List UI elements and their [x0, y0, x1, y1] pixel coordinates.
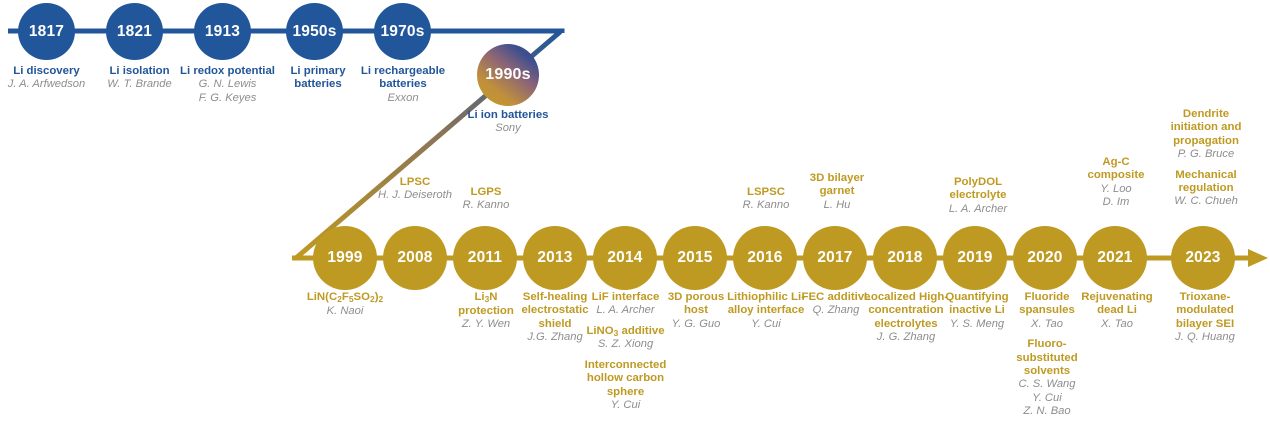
caption-author: W. T. Brande	[92, 78, 187, 91]
timeline-node-2011[interactable]: 2011	[453, 226, 517, 290]
timeline-node-2017[interactable]: 2017	[803, 226, 867, 290]
caption-title: LGPS	[446, 186, 526, 199]
caption-1990s: Li ion batteries Sony	[463, 109, 553, 136]
timeline-node-2023[interactable]: 2023	[1171, 226, 1235, 290]
timeline-figure: 1817 Li discovery J. A. Arfwedson 1821 L…	[0, 0, 1270, 430]
caption-1817: Li discovery J. A. Arfwedson	[0, 65, 99, 92]
caption-title: Dendrite initiation and propagation	[1163, 108, 1249, 148]
timeline-node-2018[interactable]: 2018	[873, 226, 937, 290]
caption-entry: Li rechargeable batteries Exxon	[356, 65, 450, 105]
caption-author: W. C. Chueh	[1163, 195, 1249, 208]
caption-title: Fluoro-substituted solvents	[1010, 338, 1084, 378]
caption-author: Y. Loo	[1080, 183, 1152, 196]
caption-author: F. G. Keyes	[180, 92, 275, 105]
caption-entry: Dendrite initiation and propagation P. G…	[1163, 108, 1249, 162]
caption-entry: PolyDOL electrolyte L. A. Archer	[938, 176, 1018, 216]
node-year-label: 2016	[747, 249, 782, 267]
caption-author: K. Naoi	[283, 305, 407, 318]
caption-title: Lithiophilic Li-alloy interface	[727, 291, 805, 318]
caption-author: Y. S. Meng	[937, 318, 1017, 331]
caption-title: Li redox potential	[180, 65, 275, 78]
timeline-node-1821[interactable]: 1821	[106, 3, 163, 60]
caption-author: D. Im	[1080, 196, 1152, 209]
caption-entry: Li redox potential G. N. Lewis F. G. Key…	[180, 65, 275, 105]
timeline-node-2021[interactable]: 2021	[1083, 226, 1147, 290]
caption-above-2016: LSPSC R. Kanno	[728, 186, 804, 213]
caption-title: Li isolation	[92, 65, 187, 78]
caption-below-2016: Lithiophilic Li-alloy interface Y. Cui	[727, 291, 805, 331]
caption-entry: Trioxane-modulated bilayer SEI J. Q. Hua…	[1163, 291, 1247, 345]
timeline-node-1990s[interactable]: 1990s	[477, 44, 539, 106]
caption-above-2019: PolyDOL electrolyte L. A. Archer	[938, 176, 1018, 216]
caption-title: Li3Nprotection	[447, 291, 525, 318]
caption-entry: LPSC H. J. Deiseroth	[374, 176, 456, 203]
caption-title: Quantifying inactive Li	[937, 291, 1017, 318]
caption-title: Li ion batteries	[463, 109, 553, 122]
caption-entry: 3D bilayer garnet L. Hu	[800, 172, 874, 212]
caption-author: R. Kanno	[728, 199, 804, 212]
caption-title: LiN(C2F5SO2)2	[283, 291, 407, 305]
node-year-label: 2020	[1027, 249, 1062, 267]
caption-below-2023: Trioxane-modulated bilayer SEI J. Q. Hua…	[1163, 291, 1247, 345]
node-year-label: 1990s	[485, 66, 531, 84]
caption-below-2019: Quantifying inactive Li Y. S. Meng	[937, 291, 1017, 331]
caption-author: Z. Y. Wen	[447, 318, 525, 331]
caption-entry: Fluoro-substituted solvents C. S. Wang Y…	[1010, 338, 1084, 418]
node-year-label: 2023	[1185, 249, 1220, 267]
node-year-label: 2021	[1097, 249, 1132, 267]
caption-author: C. S. Wang	[1010, 378, 1084, 391]
caption-author: Q. Zhang	[800, 304, 872, 317]
caption-1970s: Li rechargeable batteries Exxon	[356, 65, 450, 105]
caption-below-2015: 3D porous host Y. G. Guo	[657, 291, 735, 331]
caption-author: Y. G. Guo	[657, 318, 735, 331]
caption-title: Interconnected hollow carbon sphere	[579, 359, 672, 399]
caption-entry: 3D porous host Y. G. Guo	[657, 291, 735, 331]
caption-author: Y. Cui	[727, 318, 805, 331]
node-year-label: 2011	[468, 249, 502, 267]
node-year-label: 1950s	[292, 23, 336, 41]
caption-title: Trioxane-modulated bilayer SEI	[1163, 291, 1247, 331]
caption-title: 3D porous host	[657, 291, 735, 318]
caption-entry: Rejuvenating dead Li X. Tao	[1072, 291, 1162, 331]
timeline-node-2016[interactable]: 2016	[733, 226, 797, 290]
caption-entry: Ag-C composite Y. Loo D. Im	[1080, 156, 1152, 209]
caption-above-2008: LPSC H. J. Deiseroth	[374, 176, 456, 203]
caption-above-2017: 3D bilayer garnet L. Hu	[800, 172, 874, 212]
caption-title: PolyDOL electrolyte	[938, 176, 1018, 203]
node-year-label: 2017	[817, 249, 852, 267]
caption-below-1999: LiN(C2F5SO2)2 K. Naoi	[283, 291, 407, 318]
caption-author: J. A. Arfwedson	[0, 78, 99, 91]
caption-author: P. G. Bruce	[1163, 148, 1249, 161]
caption-author: Y. Cui	[579, 399, 672, 412]
caption-author: R. Kanno	[446, 199, 526, 212]
caption-above-2023: Dendrite initiation and propagation P. G…	[1163, 108, 1249, 209]
caption-author: H. J. Deiseroth	[374, 189, 456, 202]
caption-below-2011: Li3Nprotection Z. Y. Wen	[447, 291, 525, 331]
node-year-label: 2018	[887, 249, 922, 267]
caption-author: Y. Cui	[1010, 392, 1084, 405]
caption-entry: Li isolation W. T. Brande	[92, 65, 187, 92]
caption-1913: Li redox potential G. N. Lewis F. G. Key…	[180, 65, 275, 105]
node-year-label: 1817	[29, 23, 64, 41]
caption-author: J. Q. Huang	[1163, 331, 1247, 344]
caption-entry: Li discovery J. A. Arfwedson	[0, 65, 99, 92]
caption-title: 3D bilayer garnet	[800, 172, 874, 199]
caption-author: L. Hu	[800, 199, 874, 212]
timeline-node-1970s[interactable]: 1970s	[374, 3, 431, 60]
caption-below-2021: Rejuvenating dead Li X. Tao	[1072, 291, 1162, 331]
caption-title: Ag-C composite	[1080, 156, 1152, 183]
caption-entry: Li ion batteries Sony	[463, 109, 553, 136]
caption-entry: Lithiophilic Li-alloy interface Y. Cui	[727, 291, 805, 331]
node-year-label: 1999	[327, 249, 362, 267]
node-year-label: 2015	[677, 249, 712, 267]
caption-title: Li rechargeable batteries	[356, 65, 450, 92]
caption-entry: LiN(C2F5SO2)2 K. Naoi	[283, 291, 407, 318]
caption-title: Li discovery	[0, 65, 99, 78]
caption-title: Mechanical regulation	[1163, 169, 1249, 196]
caption-title: LPSC	[374, 176, 456, 189]
caption-1821: Li isolation W. T. Brande	[92, 65, 187, 92]
caption-entry: LGPS R. Kanno	[446, 186, 526, 213]
timeline-node-2020[interactable]: 2020	[1013, 226, 1077, 290]
caption-author: Sony	[463, 122, 553, 135]
caption-author: G. N. Lewis	[180, 78, 275, 91]
caption-entry: Mechanical regulation W. C. Chueh	[1163, 169, 1249, 209]
caption-above-2021: Ag-C composite Y. Loo D. Im	[1080, 156, 1152, 209]
caption-entry: Interconnected hollow carbon sphere Y. C…	[579, 359, 672, 413]
timeline-node-1817[interactable]: 1817	[18, 3, 75, 60]
timeline-node-2013[interactable]: 2013	[523, 226, 587, 290]
node-year-label: 2019	[957, 249, 992, 267]
timeline-node-1913[interactable]: 1913	[194, 3, 251, 60]
node-year-label: 1913	[205, 23, 240, 41]
caption-author: Z. N. Bao	[1010, 405, 1084, 418]
caption-above-2011: LGPS R. Kanno	[446, 186, 526, 213]
timeline-node-2015[interactable]: 2015	[663, 226, 727, 290]
caption-title: Li primary batteries	[268, 65, 368, 92]
node-year-label: 2013	[537, 249, 572, 267]
caption-author: S. Z. Xiong	[579, 338, 672, 351]
caption-below-2017: FEC additive Q. Zhang	[800, 291, 872, 318]
caption-entry: Li primary batteries	[268, 65, 368, 92]
timeline-node-2014[interactable]: 2014	[593, 226, 657, 290]
timeline-node-1999[interactable]: 1999	[313, 226, 377, 290]
node-year-label: 2014	[607, 249, 642, 267]
caption-entry: Quantifying inactive Li Y. S. Meng	[937, 291, 1017, 331]
node-year-label: 1821	[117, 23, 152, 41]
node-year-label: 1970s	[380, 23, 424, 41]
timeline-node-1950s[interactable]: 1950s	[286, 3, 343, 60]
caption-author: Exxon	[356, 92, 450, 105]
caption-title: LSPSC	[728, 186, 804, 199]
caption-title: Rejuvenating dead Li	[1072, 291, 1162, 318]
caption-author: L. A. Archer	[938, 203, 1018, 216]
caption-author: J. G. Zhang	[863, 331, 949, 344]
caption-title: FEC additive	[800, 291, 872, 304]
caption-entry: FEC additive Q. Zhang	[800, 291, 872, 318]
caption-entry: LSPSC R. Kanno	[728, 186, 804, 213]
caption-1950s: Li primary batteries	[268, 65, 368, 92]
caption-author: X. Tao	[1072, 318, 1162, 331]
timeline-node-2019[interactable]: 2019	[943, 226, 1007, 290]
node-year-label: 2008	[397, 249, 432, 267]
timeline-node-2008[interactable]: 2008	[383, 226, 447, 290]
caption-entry: Li3Nprotection Z. Y. Wen	[447, 291, 525, 331]
